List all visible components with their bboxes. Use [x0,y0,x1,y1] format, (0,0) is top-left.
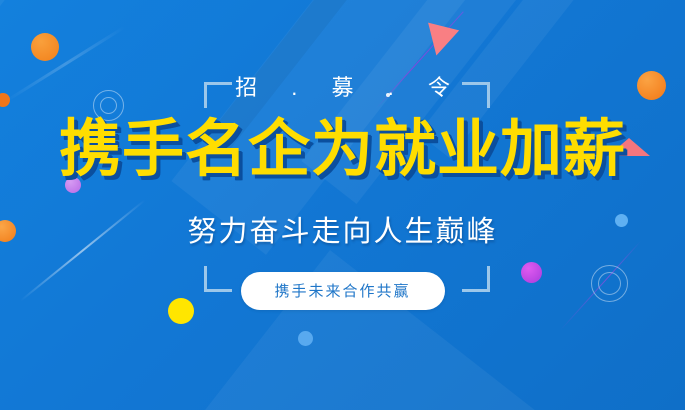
subheadline-text: 努力奋斗走向人生巅峰 [0,208,685,250]
recruitment-banner: 招 . 募 . 令 携手名企为就业加薪 努力奋斗走向人生巅峰 携手未来合作共赢 [0,0,685,410]
cta-button[interactable]: 携手未来合作共赢 [240,272,444,310]
headline-text: 携手名企为就业加薪 [0,119,685,181]
eyebrow-text: 招 . 募 . 令 [0,70,685,102]
banner-content: 招 . 募 . 令 携手名企为就业加薪 努力奋斗走向人生巅峰 携手未来合作共赢 [0,0,685,410]
